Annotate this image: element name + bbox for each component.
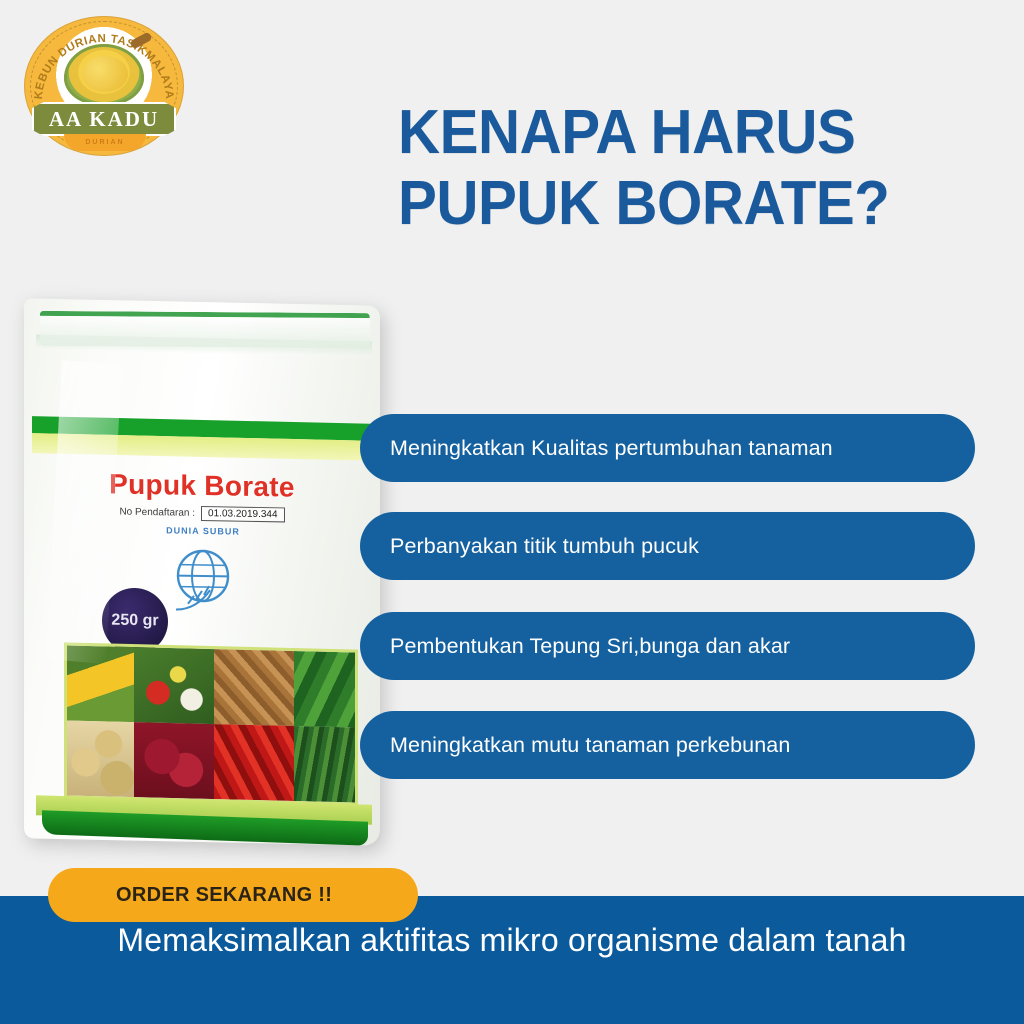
- logo-banner-text: AA KADU: [49, 107, 159, 132]
- collage-scallions: [294, 726, 355, 802]
- logo-ribbon-banner: AA KADU: [32, 102, 176, 136]
- logo-subband-text: DURIAN: [85, 139, 124, 146]
- poster-canvas: KEBUN DURIAN TASIKMALAYA AA KADU DURIAN …: [0, 0, 1024, 1024]
- benefit-pill-1: Meningkatkan Kualitas pertumbuhan tanama…: [360, 414, 975, 482]
- durian-icon: [64, 44, 144, 106]
- benefit-pill-4: Meningkatkan mutu tanaman perkebunan: [360, 711, 975, 779]
- package-weight-text: 250 gr: [111, 612, 158, 631]
- headline-line-1: KENAPA HARUS: [398, 98, 855, 167]
- registration-label: No Pendaftaran :: [119, 507, 195, 519]
- dunia-subur-globe-icon: DUNIA SUBUR: [162, 539, 244, 622]
- collage-cabbage: [294, 651, 355, 727]
- benefit-text-1: Meningkatkan Kualitas pertumbuhan tanama…: [360, 436, 833, 461]
- package-top-seal: [40, 311, 370, 348]
- benefit-text-2: Perbanyakan titik tumbuh pucuk: [360, 534, 699, 559]
- headline-line-2: PUPUK BORATE?: [398, 175, 962, 234]
- globe-svg: [162, 539, 244, 622]
- order-now-label: ORDER SEKARANG !!: [48, 884, 332, 907]
- produce-collage: [64, 642, 358, 805]
- benefit-text-4: Meningkatkan mutu tanaman perkebunan: [360, 733, 790, 758]
- benefit-text-3: Pembentukan Tepung Sri,bunga dan akar: [360, 634, 790, 659]
- collage-mixed-vegetables: [134, 647, 214, 724]
- footer-tagline: Memaksimalkan aktifitas mikro organisme …: [80, 920, 944, 960]
- product-package: Pupuk Borate No Pendaftaran : 01.03.2019…: [24, 302, 380, 842]
- order-now-button[interactable]: ORDER SEKARANG !!: [48, 868, 418, 922]
- page-title: KENAPA HARUS PUPUK BORATE?: [398, 104, 962, 234]
- product-image: Pupuk Borate No Pendaftaran : 01.03.2019…: [14, 296, 394, 862]
- collage-corn: [67, 645, 134, 722]
- package-product-name: Pupuk Borate: [24, 467, 380, 505]
- collage-red-onions: [134, 722, 214, 799]
- benefit-pill-3: Pembentukan Tepung Sri,bunga dan akar: [360, 612, 975, 680]
- logo-subband: DURIAN: [64, 134, 146, 151]
- brand-logo: KEBUN DURIAN TASIKMALAYA AA KADU DURIAN: [18, 16, 190, 172]
- globe-brand-text: DUNIA SUBUR: [162, 525, 244, 536]
- collage-potatoes: [67, 720, 134, 797]
- collage-chilies: [214, 724, 294, 801]
- collage-shallots: [214, 649, 294, 726]
- registration-number: 01.03.2019.344: [201, 506, 285, 522]
- benefit-pill-2: Perbanyakan titik tumbuh pucuk: [360, 512, 975, 580]
